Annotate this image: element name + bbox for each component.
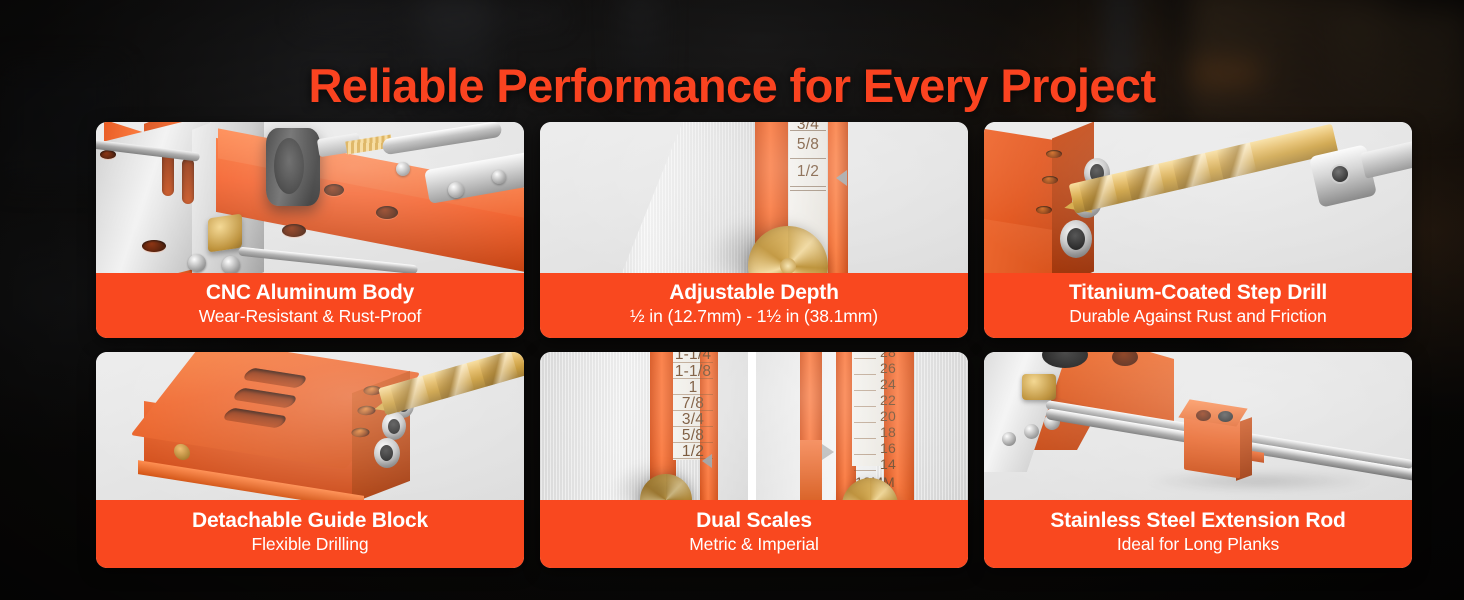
drill-bit bbox=[378, 352, 524, 415]
metric-label-22: 22 bbox=[856, 392, 896, 408]
imperial-scale-panel: 1-1/4 1-1/8 1 7/8 3/4 5/8 1/2 bbox=[540, 352, 748, 500]
metric-scale-panel: 28 26 24 22 20 18 16 14 13MM bbox=[756, 352, 968, 500]
product-photo-detachable-guide-block bbox=[96, 352, 524, 500]
caption-subtitle: Flexible Drilling bbox=[102, 533, 518, 556]
feature-card-titanium-coated-step-drill: Titanium-Coated Step Drill Durable Again… bbox=[984, 122, 1412, 338]
product-photo-titanium-coated-step-drill bbox=[984, 122, 1412, 273]
depth-pointer-icon bbox=[836, 170, 847, 186]
scale-label-one-half: 1/2 bbox=[788, 163, 828, 181]
caption-stainless-steel-extension-rod: Stainless Steel Extension Rod Ideal for … bbox=[984, 500, 1412, 568]
caption-subtitle: Wear-Resistant & Rust-Proof bbox=[102, 305, 518, 328]
feature-card-grid: CNC Aluminum Body Wear-Resistant & Rust-… bbox=[96, 122, 1368, 578]
scale-label-five-eighth: 5/8 bbox=[788, 136, 828, 154]
set-screw-icon bbox=[1332, 166, 1348, 182]
caption-title: Adjustable Depth bbox=[546, 280, 962, 305]
product-photo-stainless-steel-extension-rod bbox=[984, 352, 1412, 500]
product-photo-adjustable-depth: 3/4 5/8 1/2 bbox=[540, 122, 968, 273]
caption-subtitle: Ideal for Long Planks bbox=[990, 533, 1406, 556]
feature-card-cnc-aluminum-body: CNC Aluminum Body Wear-Resistant & Rust-… bbox=[96, 122, 524, 338]
caption-title: Detachable Guide Block bbox=[102, 508, 518, 533]
feature-card-stainless-steel-extension-rod: Stainless Steel Extension Rod Ideal for … bbox=[984, 352, 1412, 568]
page-title: Reliable Performance for Every Project bbox=[0, 60, 1464, 112]
metric-label-14: 14 bbox=[856, 456, 896, 472]
caption-title: Dual Scales bbox=[546, 508, 962, 533]
scale-label-three-quarter: 3/4 bbox=[788, 122, 828, 134]
caption-title: Stainless Steel Extension Rod bbox=[990, 508, 1406, 533]
caption-subtitle: Metric & Imperial bbox=[546, 533, 962, 556]
caption-subtitle: ½ in (12.7mm) - 1½ in (38.1mm) bbox=[546, 305, 962, 328]
caption-adjustable-depth: Adjustable Depth ½ in (12.7mm) - 1½ in (… bbox=[540, 273, 968, 338]
metric-label-24: 24 bbox=[856, 376, 896, 392]
metric-label-18: 18 bbox=[856, 424, 896, 440]
feature-card-dual-scales: 1-1/4 1-1/8 1 7/8 3/4 5/8 1/2 bbox=[540, 352, 968, 568]
caption-title: Titanium-Coated Step Drill bbox=[990, 280, 1406, 305]
imperial-pointer-icon bbox=[702, 454, 712, 468]
metric-label-20: 20 bbox=[856, 408, 896, 424]
metric-label-16: 16 bbox=[856, 440, 896, 456]
feature-card-adjustable-depth: 3/4 5/8 1/2 Adjustable Depth ½ in (12.7m… bbox=[540, 122, 968, 338]
metric-label-26: 26 bbox=[856, 360, 896, 376]
panel-divider bbox=[748, 352, 756, 500]
brass-knob bbox=[1022, 374, 1056, 400]
caption-dual-scales: Dual Scales Metric & Imperial bbox=[540, 500, 968, 568]
metric-label-28: 28 bbox=[856, 352, 896, 360]
caption-titanium-coated-step-drill: Titanium-Coated Step Drill Durable Again… bbox=[984, 273, 1412, 338]
metric-pointer-icon bbox=[822, 444, 834, 460]
product-photo-cnc-aluminum-body bbox=[96, 122, 524, 273]
infographic-page: Reliable Performance for Every Project bbox=[0, 0, 1464, 600]
caption-title: CNC Aluminum Body bbox=[102, 280, 518, 305]
feature-card-detachable-guide-block: Detachable Guide Block Flexible Drilling bbox=[96, 352, 524, 568]
caption-subtitle: Durable Against Rust and Friction bbox=[990, 305, 1406, 328]
product-photo-dual-scales: 1-1/4 1-1/8 1 7/8 3/4 5/8 1/2 bbox=[540, 352, 968, 500]
caption-detachable-guide-block: Detachable Guide Block Flexible Drilling bbox=[96, 500, 524, 568]
caption-cnc-aluminum-body: CNC Aluminum Body Wear-Resistant & Rust-… bbox=[96, 273, 524, 338]
